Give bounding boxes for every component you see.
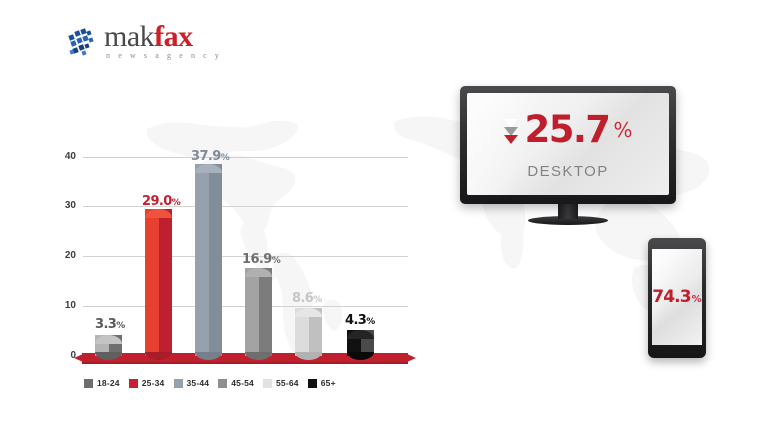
bar-label-18-24: 3.3% bbox=[95, 318, 125, 333]
y-tick-20: 20 bbox=[48, 251, 76, 261]
monitor-bezel: 25.7 % DESKTOP bbox=[460, 86, 676, 204]
y-tick-30: 30 bbox=[48, 201, 76, 211]
legend-label-18-24: 18-24 bbox=[97, 378, 120, 388]
diamond-cluster-icon bbox=[68, 26, 100, 58]
legend-item-55-64[interactable]: 55-64 bbox=[263, 378, 299, 388]
bar-label-35-44: 37.9% bbox=[191, 150, 230, 165]
bar-label-55-64: 8.6% bbox=[292, 292, 322, 307]
bar-25-34[interactable] bbox=[145, 209, 172, 356]
legend-item-65-plus[interactable]: 65+ bbox=[308, 378, 336, 388]
desktop-value: 25.7 bbox=[525, 111, 610, 148]
bar-label-25-34: 29.0% bbox=[142, 195, 181, 210]
legend-label-65-plus: 65+ bbox=[321, 378, 336, 388]
legend-label-45-54: 45-54 bbox=[231, 378, 254, 388]
bar-value-18-24: 3.3% bbox=[95, 317, 125, 332]
bar-35-44[interactable] bbox=[195, 164, 222, 356]
age-distribution-bar-chart: 40 30 20 10 0 3.3% 29.0% bbox=[48, 140, 408, 385]
triple-down-arrow-icon bbox=[504, 119, 518, 143]
legend-item-35-44[interactable]: 35-44 bbox=[174, 378, 210, 388]
legend-swatch-45-54 bbox=[218, 379, 227, 388]
bar-45-54[interactable] bbox=[245, 268, 272, 356]
legend-swatch-35-44 bbox=[174, 379, 183, 388]
logo-wordmark: makfax bbox=[104, 20, 193, 54]
legend-swatch-18-24 bbox=[84, 379, 93, 388]
desktop-percent-symbol: % bbox=[613, 120, 632, 140]
phone-screen: 74.3 % bbox=[652, 249, 702, 345]
bar-value-55-64: 8.6% bbox=[292, 291, 322, 306]
logo-word-primary: mak bbox=[104, 20, 154, 53]
bar-55-64[interactable] bbox=[295, 308, 322, 356]
bar-label-45-54: 16.9% bbox=[242, 253, 281, 268]
infographic-canvas: makfax n e w s a g e n c y 40 30 20 10 0 bbox=[0, 0, 766, 426]
legend-item-18-24[interactable]: 18-24 bbox=[84, 378, 120, 388]
legend-label-55-64: 55-64 bbox=[276, 378, 299, 388]
mobile-stat-row: 74.3 % bbox=[652, 289, 701, 306]
platform-right-cap bbox=[407, 354, 416, 362]
bar-value-35-44: 37.9% bbox=[191, 149, 230, 164]
gridline-30 bbox=[83, 206, 408, 207]
desktop-stat-row: 25.7 % bbox=[467, 111, 669, 148]
legend-swatch-25-34 bbox=[129, 379, 138, 388]
monitor-screen: 25.7 % DESKTOP bbox=[467, 93, 669, 195]
brand-logo[interactable]: makfax n e w s a g e n c y bbox=[68, 22, 248, 66]
legend-item-45-54[interactable]: 45-54 bbox=[218, 378, 254, 388]
mobile-percent-symbol: % bbox=[692, 294, 702, 305]
bar-65-plus[interactable] bbox=[347, 330, 374, 356]
bar-label-65-plus: 4.3% bbox=[345, 314, 375, 329]
logo-tagline: n e w s a g e n c y bbox=[106, 51, 222, 60]
bar-value-25-34: 29.0% bbox=[142, 194, 181, 209]
phone-body: 74.3 % bbox=[648, 238, 706, 358]
y-tick-10: 10 bbox=[48, 301, 76, 311]
y-tick-0: 0 bbox=[48, 351, 76, 361]
gridline-40 bbox=[83, 157, 408, 158]
bar-value-65-plus: 4.3% bbox=[345, 313, 375, 328]
monitor-stand-neck bbox=[558, 203, 578, 219]
chart-legend: 18-24 25-34 35-44 45-54 55-64 65+ bbox=[84, 375, 394, 391]
legend-item-25-34[interactable]: 25-34 bbox=[129, 378, 165, 388]
legend-label-25-34: 25-34 bbox=[142, 378, 165, 388]
y-tick-40: 40 bbox=[48, 152, 76, 162]
logo-word-accent: fax bbox=[154, 20, 193, 53]
mobile-device-stat: MOBILE 74.3 % bbox=[648, 238, 706, 363]
legend-label-35-44: 35-44 bbox=[187, 378, 210, 388]
bar-value-45-54: 16.9% bbox=[242, 252, 281, 267]
bar-18-24[interactable] bbox=[95, 335, 122, 356]
mobile-value: 74.3 bbox=[652, 289, 690, 306]
desktop-caption: DESKTOP bbox=[467, 163, 669, 180]
legend-swatch-55-64 bbox=[263, 379, 272, 388]
desktop-device-stat: 25.7 % DESKTOP bbox=[460, 86, 676, 226]
legend-swatch-65-plus bbox=[308, 379, 317, 388]
